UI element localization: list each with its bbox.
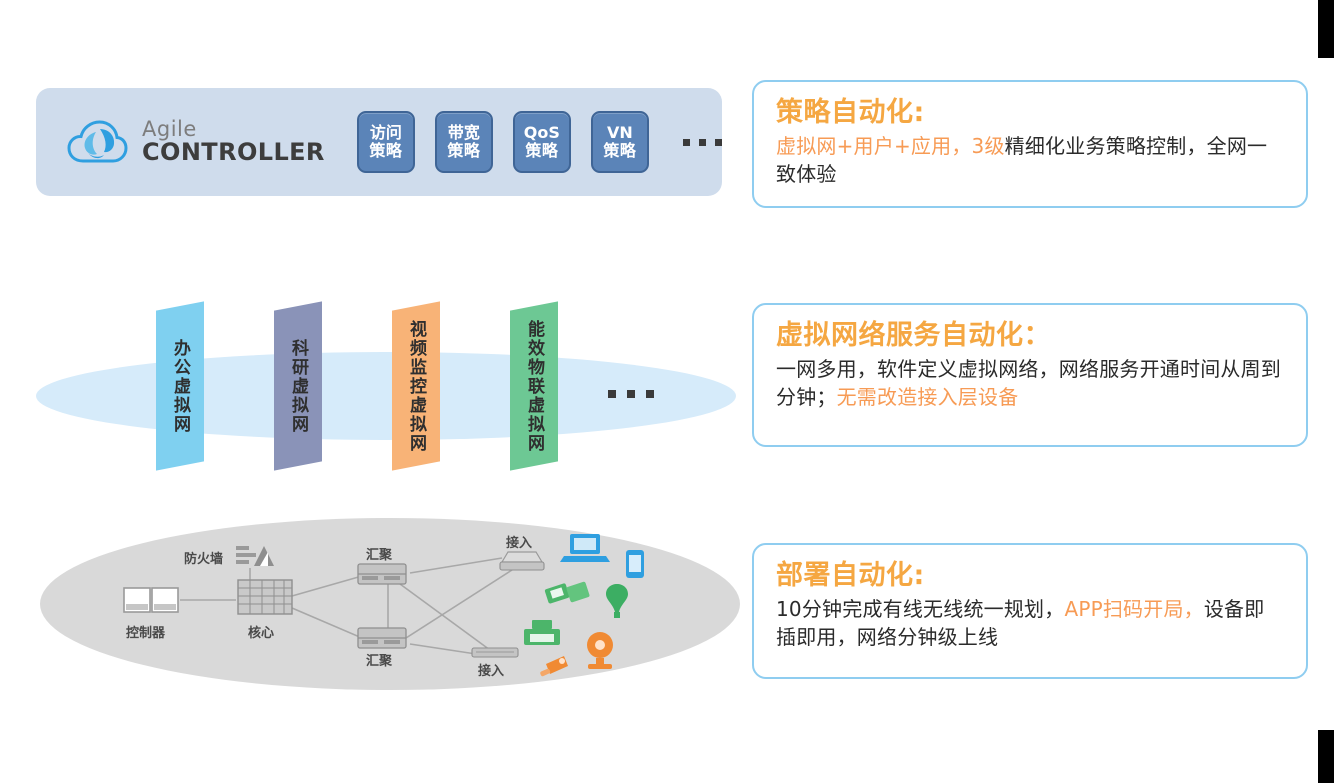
feature-card-vn-title: 虚拟网络服务自动化： [776, 319, 1284, 353]
vn-slab-iot[interactable]: 能效物联 虚拟网 [510, 301, 558, 470]
server-rack-icon [124, 588, 178, 612]
infographic-canvas: Agile CONTROLLER 访问 策略 带宽 策略 QoS 策略 VN 策… [0, 0, 1334, 783]
topology-label-access-top: 接入 [506, 532, 532, 551]
cloud-icon [66, 116, 128, 168]
topology-label-firewall: 防火墙 [184, 548, 223, 567]
right-edge-bar-bottom [1318, 730, 1334, 783]
feature-card-deploy-seg-0: 10分钟完成有线无线统一规划， [776, 597, 1064, 621]
feature-card-policy-title: 策略自动化: [776, 96, 1284, 130]
sensor-icon [544, 581, 590, 604]
policy-chip-access[interactable]: 访问 策略 [357, 111, 415, 173]
printer-icon [524, 620, 560, 645]
dome-camera-icon [587, 632, 613, 669]
policy-chip-qos-line2: 策略 [525, 142, 558, 160]
vn-slab-research-label: 科研虚拟网 [288, 339, 307, 434]
switch-icon [358, 628, 406, 648]
feature-card-deploy-body: 10分钟完成有线无线统一规划，APP扫码开局，设备即插即用，网络分钟级上线 [776, 595, 1284, 652]
vn-slab-research[interactable]: 科研虚拟网 [274, 301, 322, 470]
feature-card-vn-body: 一网多用，软件定义虚拟网络，网络服务开通时间从周到分钟；无需改造接入层设备 [776, 355, 1284, 412]
vn-slab-iot-col1: 能效物联 [524, 320, 543, 396]
vn-slab-office-label: 办公虚拟网 [170, 339, 189, 434]
topology-label-agg-bottom: 汇聚 [366, 650, 392, 669]
feature-card-policy-automation: 策略自动化: 虚拟网+用户+应用，3级精细化业务策略控制，全网一致体验 [752, 80, 1308, 208]
logo-text: Agile CONTROLLER [142, 118, 325, 165]
vn-slab-video-col2: 虚拟网 [406, 396, 425, 453]
logo-agile-text: Agile [142, 118, 325, 140]
policy-chip-access-line2: 策略 [369, 142, 402, 160]
topology-label-access-bottom: 接入 [478, 660, 504, 679]
topology-label-agg-top: 汇聚 [366, 544, 392, 563]
policy-chip-row: 访问 策略 带宽 策略 QoS 策略 VN 策略 [357, 111, 722, 173]
feature-card-deploy-title: 部署自动化: [776, 559, 1284, 593]
vn-more-ellipsis-icon [608, 390, 654, 398]
policy-chip-bandwidth-line1: 带宽 [448, 124, 480, 142]
logo-controller-text: CONTROLLER [142, 140, 325, 165]
feature-card-vn-seg-1: 无需改造接入层设备 [837, 385, 1019, 409]
policy-chip-bandwidth-line2: 策略 [447, 142, 480, 160]
lightbulb-icon [606, 584, 628, 618]
feature-card-deploy-seg-1: APP扫码开局， [1064, 597, 1203, 621]
feature-card-policy-body: 虚拟网+用户+应用，3级精细化业务策略控制，全网一致体验 [776, 132, 1284, 189]
vn-slab-office-col1: 办公虚拟网 [170, 339, 189, 434]
policy-chip-access-line1: 访问 [370, 124, 402, 142]
tablet-icon [626, 550, 644, 578]
right-edge-bar-top [1318, 0, 1334, 58]
feature-card-deploy-automation: 部署自动化: 10分钟完成有线无线统一规划，APP扫码开局，设备即插即用，网络分… [752, 543, 1308, 679]
access-switch-icon [472, 648, 518, 657]
policy-chip-vn-line2: 策略 [603, 142, 636, 160]
policy-chip-vn-line1: VN [607, 124, 633, 142]
agile-controller-logo: Agile CONTROLLER [66, 116, 325, 168]
vn-slab-video-col1: 视频监控 [406, 320, 425, 396]
policy-chip-vn[interactable]: VN 策略 [591, 111, 649, 173]
vn-slab-video-label: 视频监控 虚拟网 [406, 320, 425, 453]
topology-label-core: 核心 [248, 622, 274, 641]
topology-label-controller: 控制器 [126, 622, 165, 641]
policy-more-ellipsis-icon [683, 139, 722, 146]
vn-slab-iot-label: 能效物联 虚拟网 [524, 320, 543, 453]
firewall-icon [236, 546, 274, 566]
feature-card-policy-seg-0: 虚拟网+用户+应用，3级 [776, 134, 1005, 158]
core-switch-icon [238, 580, 292, 614]
vn-slab-video[interactable]: 视频监控 虚拟网 [392, 301, 440, 470]
feature-card-vn-service-automation: 虚拟网络服务自动化： 一网多用，软件定义虚拟网络，网络服务开通时间从周到分钟；无… [752, 303, 1308, 447]
topology-zone: 控制器 防火墙 核心 汇聚 汇聚 接入 接入 [40, 518, 740, 690]
policy-chip-bandwidth[interactable]: 带宽 策略 [435, 111, 493, 173]
vn-slab-iot-col2: 虚拟网 [524, 396, 543, 453]
laptop-icon [560, 534, 610, 562]
policy-chip-qos-line1: QoS [524, 124, 560, 142]
access-switch-icon [500, 552, 544, 570]
vn-slab-research-col1: 科研虚拟网 [288, 339, 307, 434]
switch-icon [358, 564, 406, 584]
agile-controller-band: Agile CONTROLLER 访问 策略 带宽 策略 QoS 策略 VN 策… [36, 88, 722, 196]
vn-slab-office[interactable]: 办公虚拟网 [156, 301, 204, 470]
camera-icon [540, 656, 568, 677]
policy-chip-qos[interactable]: QoS 策略 [513, 111, 571, 173]
